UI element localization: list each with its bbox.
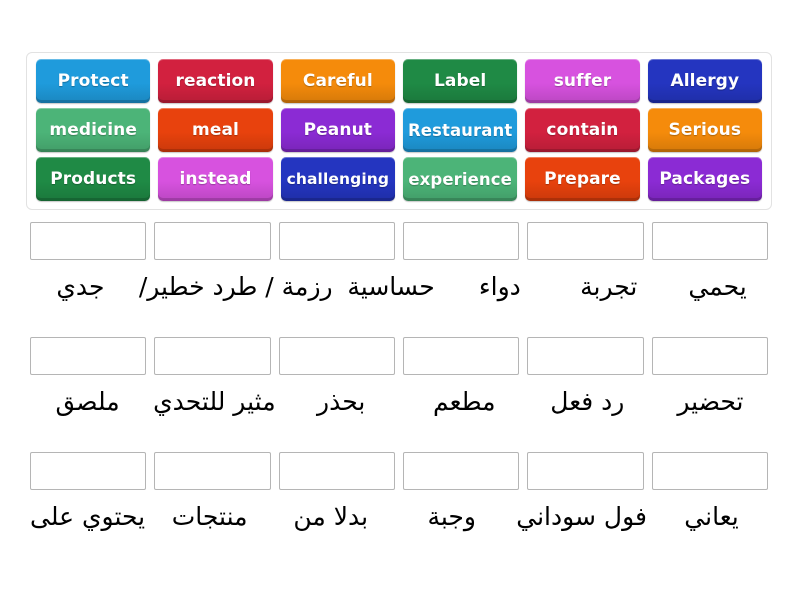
drop-slot[interactable] [154, 452, 270, 490]
word-tile-protect[interactable]: Protect [36, 59, 150, 103]
answer-group-3: يحتوي على منتجات بدلا من وجبة فول سوداني… [26, 452, 772, 533]
word-tile-label: Products [48, 169, 138, 189]
word-tile-label: medicine [47, 120, 139, 140]
prompt-label: مثير للتحدي [153, 385, 276, 418]
prompt-label: تجربة [558, 270, 659, 303]
drop-slot[interactable] [154, 222, 270, 260]
word-tile-packages[interactable]: Packages [648, 157, 762, 201]
word-tile-label: Allergy [668, 71, 741, 91]
word-tile-careful[interactable]: Careful [281, 59, 395, 103]
word-tile-medicine[interactable]: medicine [36, 108, 150, 152]
drop-slot[interactable] [279, 222, 395, 260]
prompt-label: حساسية [341, 270, 442, 303]
drop-slot[interactable] [30, 222, 146, 260]
word-tile-allergy[interactable]: Allergy [648, 59, 762, 103]
word-tile-peanut[interactable]: Peanut [281, 108, 395, 152]
prompt-label-row: يحتوي على منتجات بدلا من وجبة فول سوداني… [26, 500, 772, 533]
word-tile-experience[interactable]: experience [403, 157, 517, 201]
drop-slot[interactable] [527, 337, 643, 375]
word-tile-prepare[interactable]: Prepare [525, 157, 639, 201]
word-tile-instead[interactable]: instead [158, 157, 272, 201]
drop-slot[interactable] [652, 452, 768, 490]
drop-slot[interactable] [30, 452, 146, 490]
prompt-label: فول سوداني [516, 500, 647, 533]
word-tile-label: Restaurant [406, 121, 514, 140]
word-tile-label: meal [190, 120, 241, 140]
word-tile-label: contain [544, 120, 620, 140]
drop-slot[interactable] [279, 337, 395, 375]
word-tile-label: Serious [667, 120, 744, 140]
prompt-label: يحمي [667, 270, 768, 303]
word-tile-label-word[interactable]: Label [403, 59, 517, 103]
prompt-label: منتجات [153, 500, 266, 533]
word-tile-restaurant[interactable]: Restaurant [403, 108, 517, 152]
drop-slot-row [26, 337, 772, 377]
word-tile-label: experience [406, 170, 514, 189]
prompt-label: وجبة [395, 500, 508, 533]
prompt-label: دواء [449, 270, 550, 303]
word-bank-row: Products instead challenging experience … [32, 157, 766, 205]
prompt-label: يعاني [655, 500, 768, 533]
prompt-label: تحضير [653, 385, 768, 418]
word-tile-contain[interactable]: contain [525, 108, 639, 152]
answer-group-2: ملصق مثير للتحدي بحذر مطعم رد فعل تحضير [26, 337, 772, 418]
drop-slot[interactable] [403, 337, 519, 375]
word-tile-label: Label [432, 71, 488, 91]
prompt-label: مطعم [407, 385, 522, 418]
drop-slot[interactable] [652, 337, 768, 375]
word-tile-label: suffer [552, 71, 614, 91]
word-bank-row: medicine meal Peanut Restaurant contain … [32, 108, 766, 156]
word-tile-products[interactable]: Products [36, 157, 150, 201]
drop-slot[interactable] [527, 222, 643, 260]
drop-slot[interactable] [279, 452, 395, 490]
drop-slot-row [26, 452, 772, 492]
word-tile-reaction[interactable]: reaction [158, 59, 272, 103]
word-tile-label: reaction [173, 71, 257, 91]
drop-slot[interactable] [403, 452, 519, 490]
activity-stage: Protect reaction Careful Label suffer Al… [0, 0, 800, 600]
prompt-label: بحذر [284, 385, 399, 418]
drop-slot[interactable] [403, 222, 519, 260]
prompt-label: ملصق [30, 385, 145, 418]
word-bank-row: Protect reaction Careful Label suffer Al… [32, 59, 766, 107]
word-tile-challenging[interactable]: challenging [281, 157, 395, 201]
drop-slot[interactable] [30, 337, 146, 375]
prompt-label: رد فعل [530, 385, 645, 418]
word-tile-label: Careful [301, 71, 375, 91]
prompt-label: رزمة / طرد خطير/ [139, 270, 333, 303]
word-tile-label: instead [177, 169, 253, 189]
word-tile-meal[interactable]: meal [158, 108, 272, 152]
word-tile-label: challenging [285, 170, 392, 188]
prompt-label: بدلا من [274, 500, 387, 533]
drop-slot-row [26, 222, 772, 262]
prompt-label: جدي [30, 270, 131, 303]
word-tile-label: Prepare [542, 169, 623, 189]
drop-slot[interactable] [652, 222, 768, 260]
prompt-label: يحتوي على [30, 500, 145, 533]
word-tile-label: Protect [56, 71, 131, 91]
drop-slot[interactable] [154, 337, 270, 375]
word-tile-label: Packages [657, 169, 752, 189]
word-bank-panel: Protect reaction Careful Label suffer Al… [26, 52, 772, 210]
word-tile-serious[interactable]: Serious [648, 108, 762, 152]
word-tile-label: Peanut [302, 120, 374, 140]
prompt-label-row: ملصق مثير للتحدي بحذر مطعم رد فعل تحضير [26, 385, 772, 418]
answer-group-1: جدي رزمة / طرد خطير/ حساسية دواء تجربة ي… [26, 222, 772, 303]
drop-slot[interactable] [527, 452, 643, 490]
word-tile-suffer[interactable]: suffer [525, 59, 639, 103]
prompt-label-row: جدي رزمة / طرد خطير/ حساسية دواء تجربة ي… [26, 270, 772, 303]
